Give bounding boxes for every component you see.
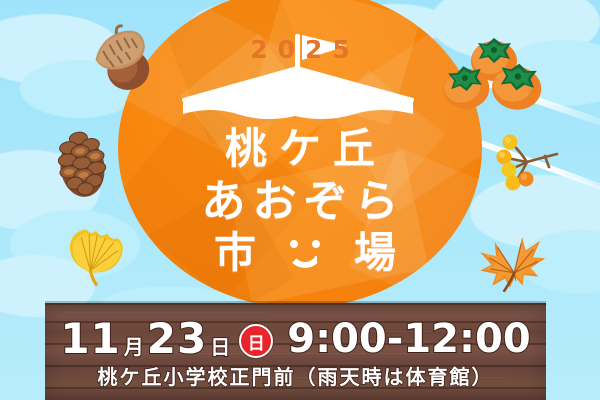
persimmon-icon xyxy=(484,54,550,116)
plank-divider xyxy=(45,303,546,305)
title-kanji-ichi: 市 xyxy=(204,232,266,274)
info-banner: 11 月 23 日 日 9:00-12:00 桃ケ丘小学校正門前（雨天時は体育館… xyxy=(45,303,546,400)
berry-branch-icon xyxy=(485,130,561,196)
maple-leaf-icon xyxy=(472,221,552,298)
day-label: 日 xyxy=(210,337,230,357)
month-number: 11 xyxy=(60,318,120,360)
title-kanji-ba: 場 xyxy=(344,232,406,274)
month-label: 月 xyxy=(124,337,144,357)
day-number: 23 xyxy=(147,318,207,360)
pinecone-icon xyxy=(49,123,115,204)
wood-grain xyxy=(65,312,265,313)
time-range: 9:00-12:00 xyxy=(287,319,530,359)
date-time-row: 11 月 23 日 日 9:00-12:00 xyxy=(45,316,546,362)
smiley-face-icon xyxy=(282,236,328,270)
venue-text: 桃ケ丘小学校正門前（雨天時は体育館） xyxy=(45,365,546,389)
poster-canvas: 2025 桃ケ丘 あおぞら 市 場 xyxy=(0,0,600,400)
tent-banner xyxy=(175,32,425,132)
weekday-badge: 日 xyxy=(239,324,273,358)
